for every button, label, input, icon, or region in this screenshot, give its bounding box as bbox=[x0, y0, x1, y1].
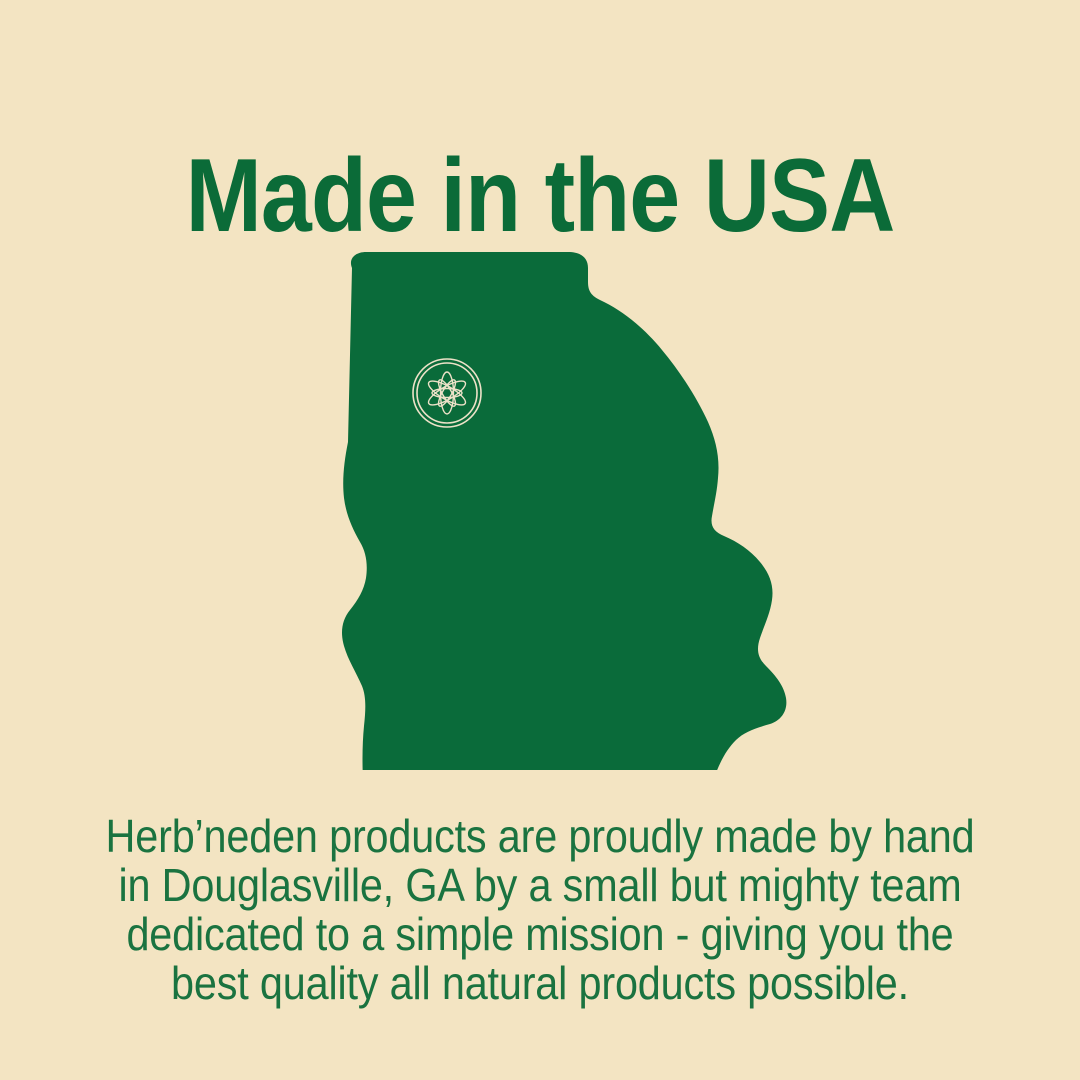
georgia-state-map bbox=[300, 230, 840, 770]
made-in-usa-poster: Made in the USA Herb’neden products ar bbox=[0, 0, 1080, 1080]
description-line-4: best quality all natural products possib… bbox=[54, 959, 1026, 1008]
description-text: Herb’neden products are proudly made by … bbox=[54, 812, 1026, 1008]
georgia-state-shape bbox=[342, 252, 786, 770]
description-line-2: in Douglasville, GA by a small but might… bbox=[54, 861, 1026, 910]
georgia-map-svg bbox=[300, 230, 840, 770]
description-line-3: dedicated to a simple mission - giving y… bbox=[54, 910, 1026, 959]
description-line-1: Herb’neden products are proudly made by … bbox=[54, 812, 1026, 861]
